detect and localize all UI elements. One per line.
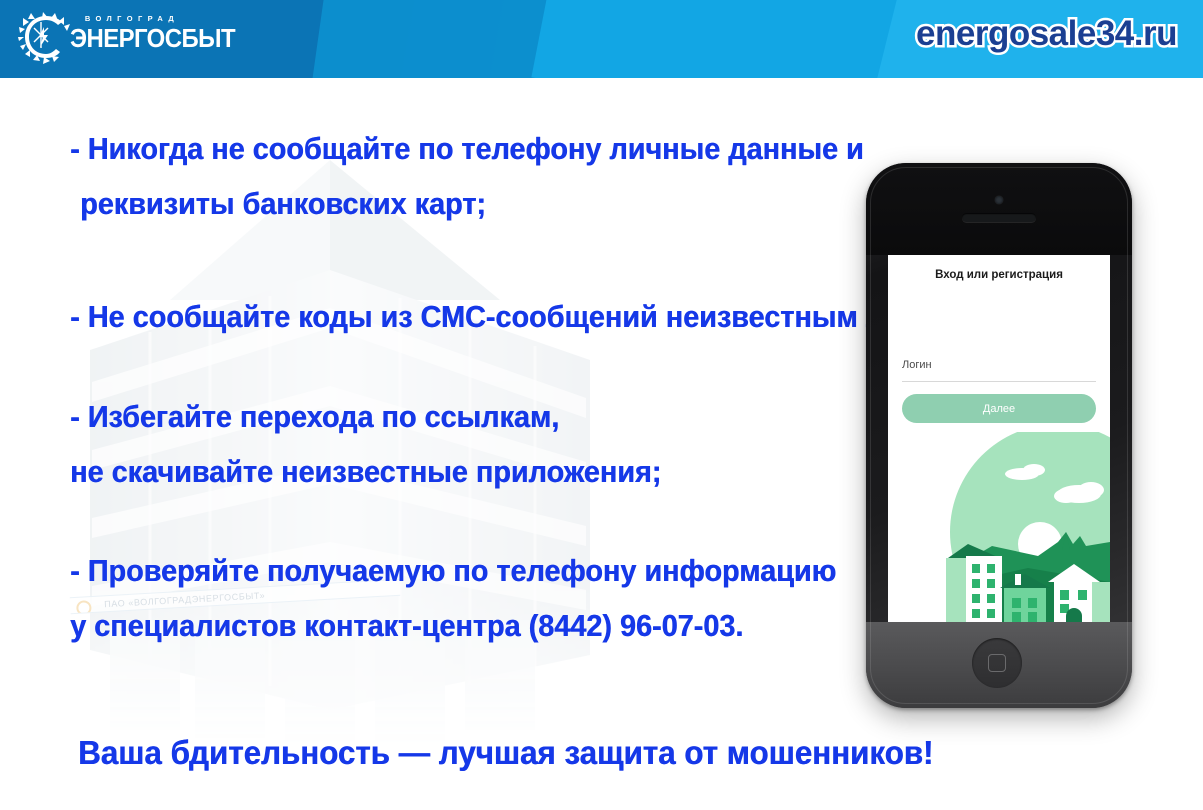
tip-line-4: - Избегайте перехода по ссылкам, [70,390,559,444]
phone-mockup: Вход или регистрация Логин Далее [866,163,1132,708]
tip-line-6: - Проверяйте получаемую по телефону инфо… [70,544,836,598]
poster-root: ВОЛГОГРАД ЭНЕРГОСБЫТ energosale34.ru [0,0,1203,810]
site-url-text[interactable]: energosale34.ru [916,14,1177,54]
company-logo[interactable]: ВОЛГОГРАД ЭНЕРГОСБЫТ [16,6,186,68]
tip-line-3: - Не сообщайте коды из СМС-сообщений неи… [70,290,967,344]
logo-brand-text: ЭНЕРГОСБЫТ [70,24,177,52]
logo-wordmark: ВОЛГОГРАД ЭНЕРГОСБЫТ [70,14,186,52]
footer-slogan: Ваша бдительность — лучшая защита от мош… [78,733,933,773]
tip-line-7: у специалистов контакт-центра (8442) 96-… [70,599,743,653]
tip-line-5: не скачивайте неизвестные приложения; [70,445,661,499]
sun-lightning-emblem-icon [18,10,74,66]
tip-line-1: - Никогда не сообщайте по телефону личны… [70,122,864,176]
site-header: ВОЛГОГРАД ЭНЕРГОСБЫТ energosale34.ru [0,0,1203,78]
header-divider [0,78,1203,81]
phone-edge-highlight [870,167,1128,704]
tip-line-2: реквизиты банковских карт; [80,177,486,231]
